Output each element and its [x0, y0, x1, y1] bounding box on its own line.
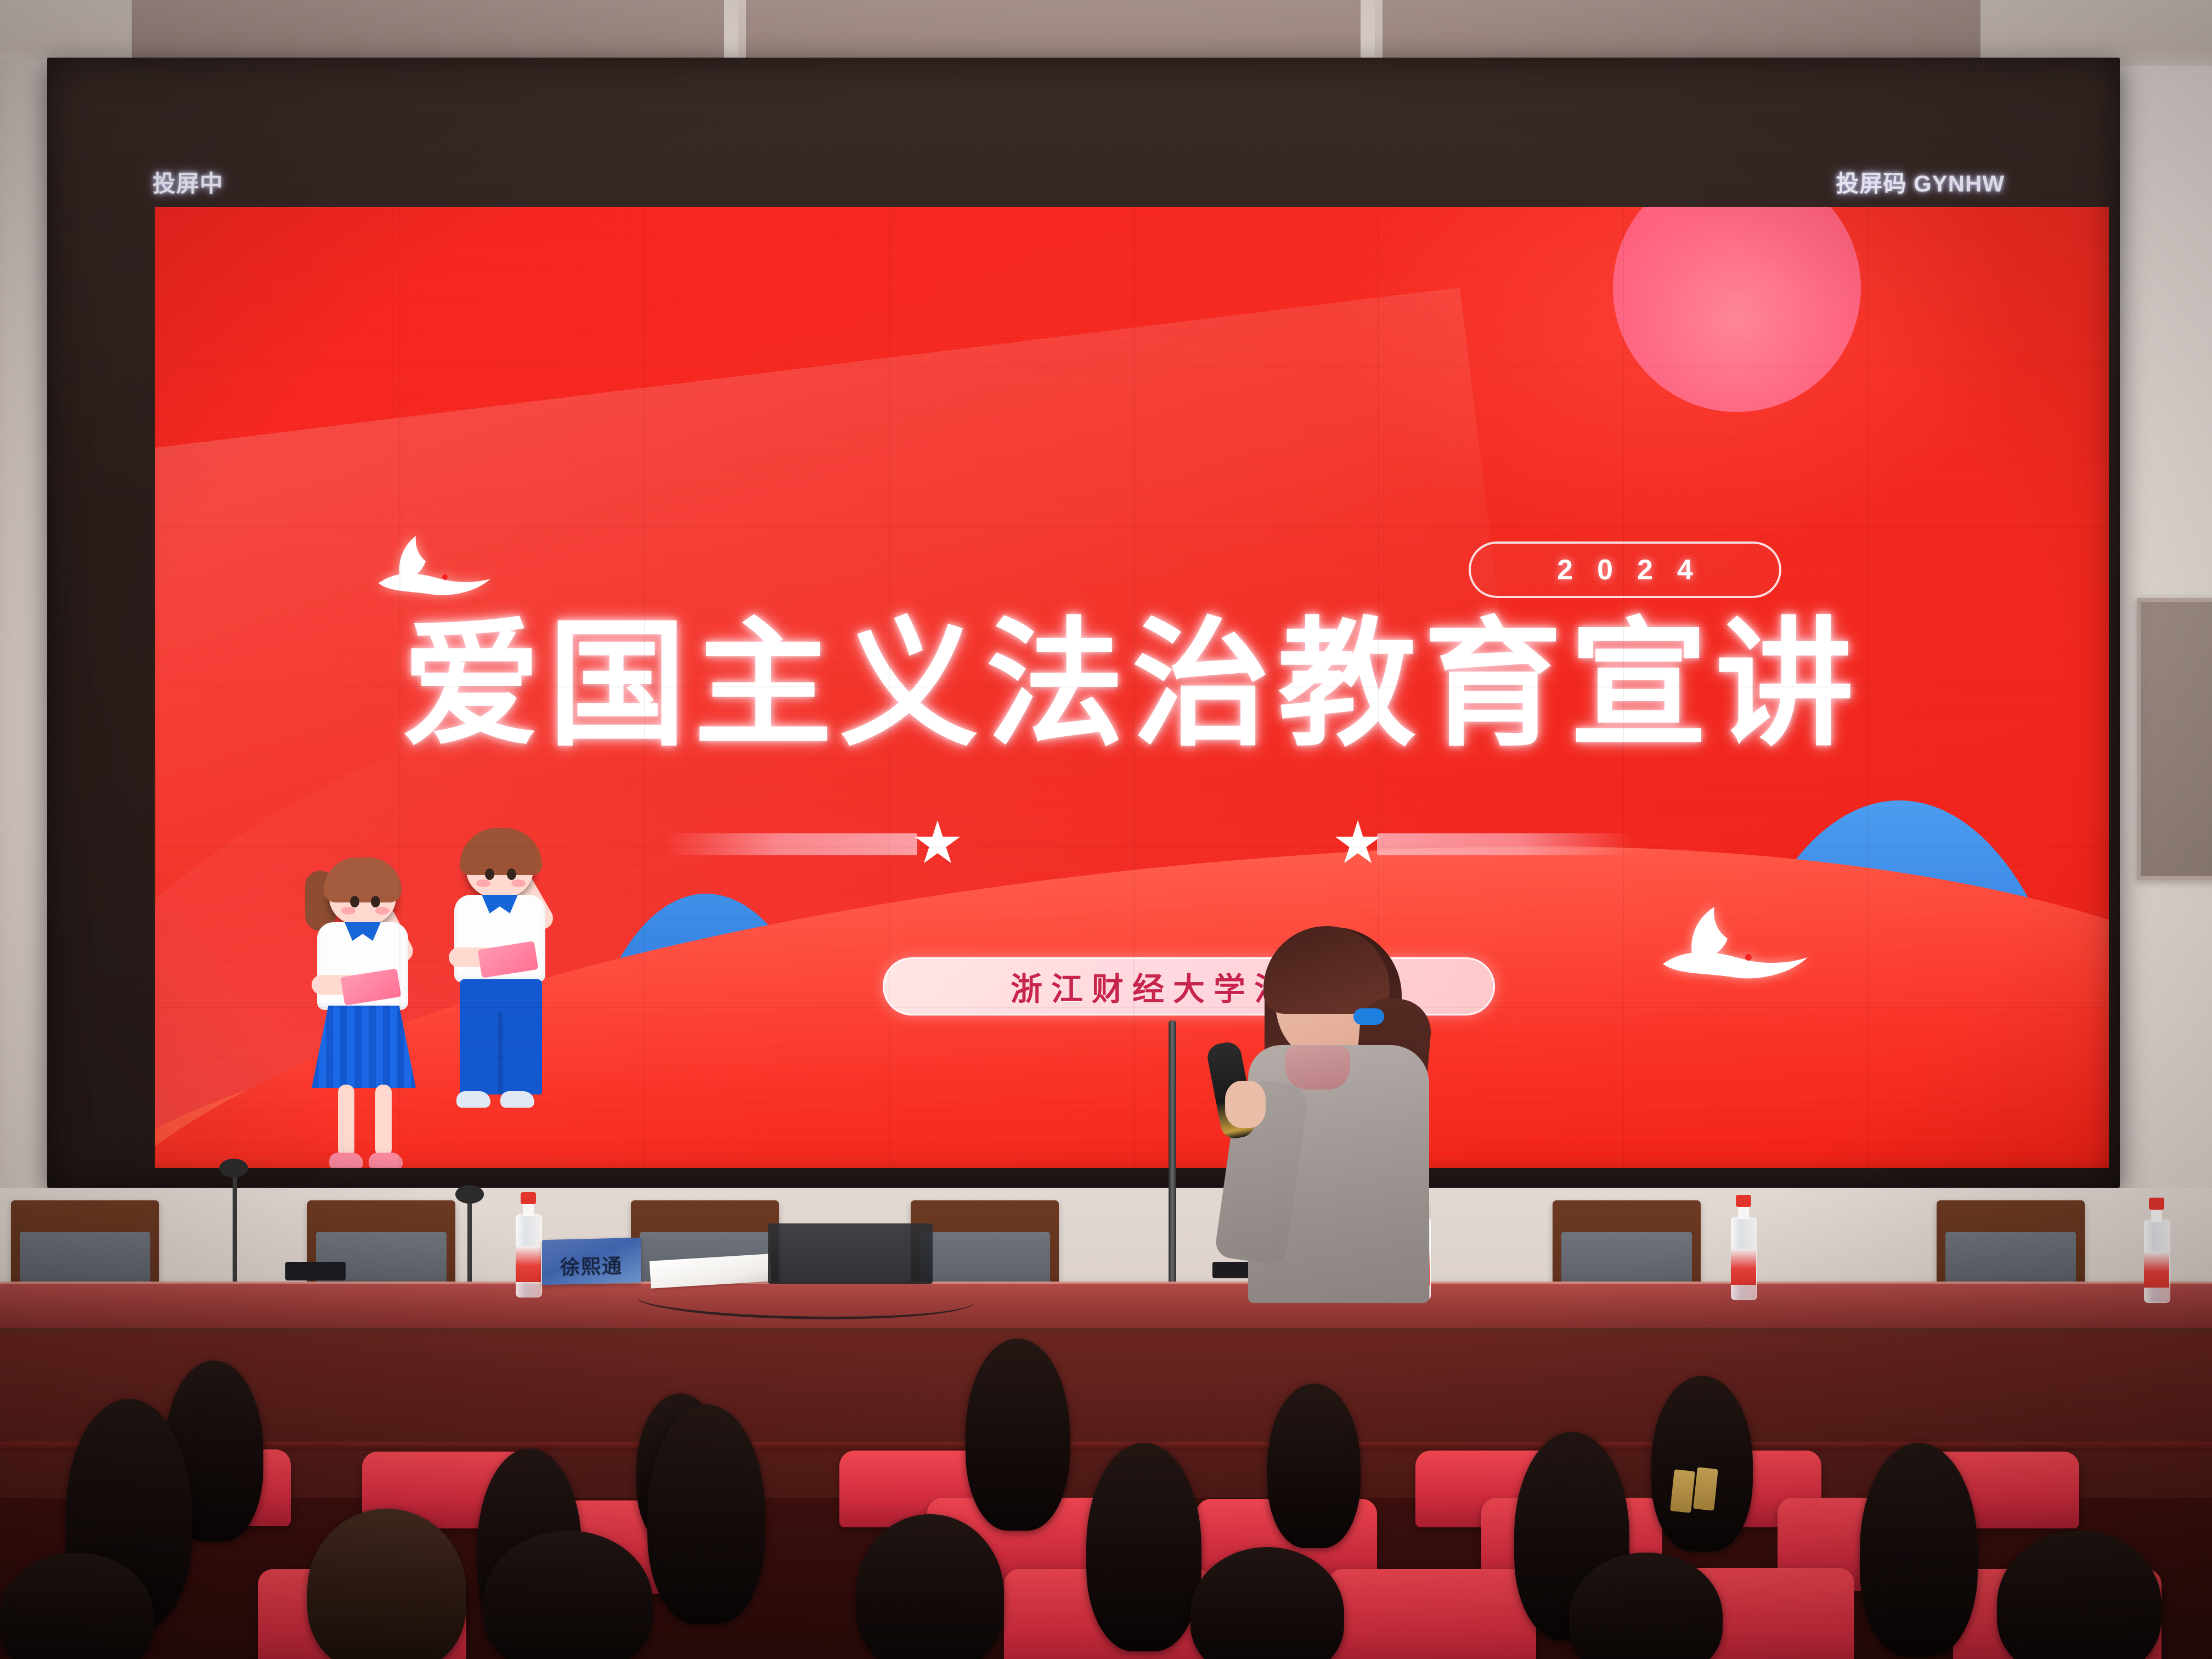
slide-canvas: 2024 爱国主义法治教育宣讲 浙江财经大学法学院	[155, 207, 2109, 1168]
led-scanlines	[155, 207, 2109, 1168]
audience-seat[interactable]	[1328, 1569, 1536, 1659]
hair-clip	[1670, 1469, 1695, 1513]
cast-code-label: 投屏码 GYNHW	[1836, 165, 2005, 199]
lecture-hall-photo: 投屏中 投屏码 GYNHW	[0, 0, 2212, 1659]
speaker-nameplate-text: 徐熙通	[560, 1250, 623, 1285]
audience-head	[1997, 1531, 2162, 1659]
ceiling-panel-2	[746, 0, 1361, 61]
table-mic-head[interactable]	[455, 1185, 484, 1204]
audience-area	[0, 1333, 2212, 1659]
wall-left-edge	[0, 60, 52, 1284]
podium-mic-stand[interactable]	[1169, 1020, 1176, 1295]
seat-row-rail	[0, 1442, 2212, 1451]
audience-head	[1086, 1443, 1201, 1651]
ceiling-panel-1	[132, 0, 724, 61]
water-bottle[interactable]	[516, 1193, 541, 1297]
ceiling-panel-3	[1383, 0, 1980, 61]
audience-head	[1860, 1443, 1978, 1657]
water-bottle[interactable]	[2144, 1199, 2169, 1303]
table-mic-head[interactable]	[219, 1159, 248, 1177]
audience-head	[966, 1339, 1070, 1531]
laptop-on-table[interactable]	[768, 1223, 933, 1284]
wall-mounted-panel	[2137, 598, 2212, 880]
presenter-speaker	[1193, 916, 1451, 1300]
audience-head	[1651, 1376, 1753, 1551]
audience-head	[307, 1509, 466, 1659]
led-video-wall[interactable]: 投屏中 投屏码 GYNHW	[47, 58, 2120, 1188]
audience-head	[647, 1404, 765, 1624]
hair-tie	[1353, 1008, 1384, 1025]
audience-head	[1267, 1384, 1361, 1548]
speaker-nameplate: 徐熙通	[542, 1238, 641, 1285]
remote-control[interactable]	[285, 1262, 346, 1280]
cast-status-label: 投屏中	[153, 165, 223, 199]
water-bottle[interactable]	[1731, 1196, 1756, 1300]
hair-clip	[1693, 1467, 1718, 1511]
